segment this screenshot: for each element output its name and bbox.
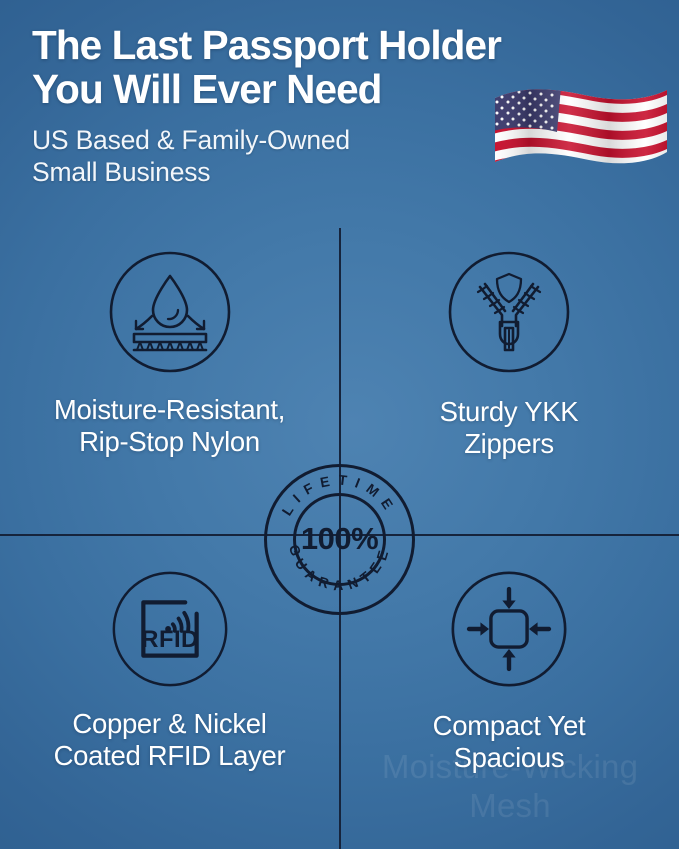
zipper-shield-icon bbox=[447, 250, 571, 374]
compact-arrows-icon bbox=[450, 570, 568, 688]
us-flag-icon bbox=[489, 80, 671, 176]
feature-label-compact-spacious: Compact Yet Spacious bbox=[433, 710, 586, 774]
page-subtitle: US Based & Family-Owned Small Business bbox=[32, 125, 502, 188]
lifetime-guarantee-seal-icon: LIFETIME GUARANTEE 100% bbox=[263, 463, 416, 616]
rfid-card-icon: RFID bbox=[111, 570, 229, 688]
feature-label-moisture-resistant: Moisture-Resistant, Rip-Stop Nylon bbox=[54, 394, 285, 458]
feature-label-ykk-zippers: Sturdy YKK Zippers bbox=[440, 396, 579, 460]
water-droplet-repel-icon bbox=[108, 250, 232, 374]
svg-text:RFID: RFID bbox=[141, 626, 198, 653]
guarantee-center-value: 100% bbox=[301, 521, 378, 556]
feature-label-rfid-layer: Copper & Nickel Coated RFID Layer bbox=[54, 708, 286, 772]
product-feature-infographic: The Last Passport Holder You Will Ever N… bbox=[0, 0, 679, 849]
